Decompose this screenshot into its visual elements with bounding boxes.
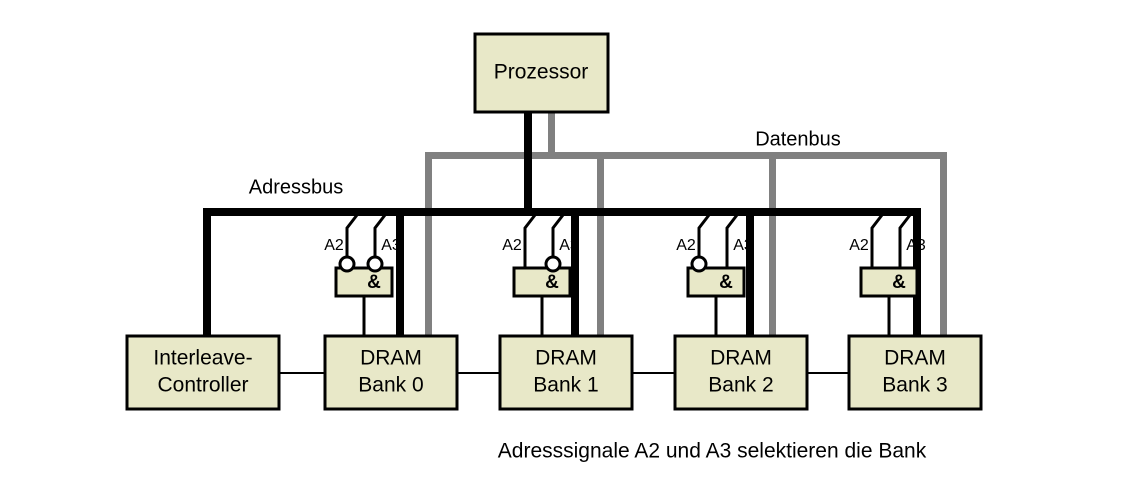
dram-bank-3-label-line2: Bank 3 (882, 374, 947, 397)
address-bus-drop-bank0 (396, 208, 404, 342)
address-bus-drop-bank2 (746, 208, 754, 342)
dram-bank-3[interactable]: DRAM Bank 3 (849, 336, 981, 409)
dram-bank-2[interactable]: DRAM Bank 2 (675, 336, 807, 409)
data-bus-drop-bank3 (940, 152, 947, 342)
dram-bank-0-label-line1: DRAM (360, 347, 422, 370)
and-gate-bank3-symbol: & (892, 272, 906, 293)
data-bus-drop-bank1 (597, 152, 604, 342)
and-gate-bank1[interactable]: & (514, 257, 570, 296)
interleave-controller-label-line1: Interleave- (153, 347, 252, 370)
dram-bank-1-label-line1: DRAM (535, 347, 597, 370)
gate-output-wires (364, 296, 889, 338)
data-bus-label: Datenbus (755, 128, 841, 150)
signal-label-a2-bank3: A2 (849, 237, 869, 254)
address-bus-drop-bank1 (571, 208, 579, 342)
address-bus-processor-drop (524, 112, 532, 212)
inverter-bubble-a2-bank0 (340, 257, 354, 271)
and-gate-bank3-rect (861, 268, 917, 296)
address-bus-label: Adressbus (249, 176, 344, 198)
inverter-bubble-a3-bank1 (546, 257, 560, 271)
and-gate-bank2-rect (688, 268, 744, 296)
address-bus-left-drop (203, 208, 211, 340)
and-gate-bank1-symbol: & (545, 272, 559, 293)
inverter-bubble-a2-bank2 (692, 257, 706, 271)
and-gate-bank1-rect (514, 268, 570, 296)
dram-bank-2-label-line1: DRAM (710, 347, 772, 370)
dram-bank-1[interactable]: DRAM Bank 1 (500, 336, 632, 409)
signal-label-a2-bank2: A2 (676, 237, 696, 254)
signal-label-a3-bank3: A3 (906, 237, 926, 254)
data-bus-horizontal (425, 152, 947, 159)
signal-label-a3-bank1: A3 (559, 237, 579, 254)
and-gate-bank3[interactable]: & (861, 268, 917, 296)
and-gate-bank2[interactable]: & (688, 257, 744, 296)
interleave-controller-box[interactable]: Interleave- Controller (127, 336, 279, 409)
data-bus-drop-bank0 (425, 152, 432, 342)
dram-bank-3-label-line1: DRAM (884, 347, 946, 370)
and-gate-bank2-symbol: & (719, 272, 733, 293)
dram-bank-2-label-line2: Bank 2 (708, 374, 773, 397)
dram-bank-0-label-line2: Bank 0 (358, 374, 423, 397)
data-bus-group (425, 112, 947, 342)
data-bus-processor-drop (548, 112, 555, 156)
signal-label-a3-bank0: A3 (381, 237, 401, 254)
dram-bank-0[interactable]: DRAM Bank 0 (325, 336, 457, 409)
and-gate-bank0-symbol: & (367, 272, 381, 293)
interleave-controller-label-line2: Controller (157, 374, 248, 397)
signal-label-a2-bank0: A2 (324, 237, 344, 254)
signal-labels: A2 A3 A2 A3 A2 A3 A2 A3 (324, 237, 926, 254)
and-gate-bank0-rect (336, 268, 392, 296)
processor-label: Prozessor (494, 61, 589, 84)
tap-a2-bank3 (872, 215, 882, 268)
signal-label-a3-bank2: A3 (733, 237, 753, 254)
and-gate-bank0[interactable]: & (336, 257, 392, 296)
diagram-canvas: Prozessor Interleave- Controller DRAM Ba… (0, 0, 1146, 500)
diagram-caption: Adresssignale A2 und A3 selektieren die … (498, 440, 927, 463)
dram-bank-1-label-line2: Bank 1 (533, 374, 598, 397)
interleaving-diagram: Prozessor Interleave- Controller DRAM Ba… (0, 0, 1146, 500)
signal-label-a2-bank1: A2 (502, 237, 522, 254)
data-bus-drop-bank2 (769, 152, 776, 342)
tap-a2-bank1 (525, 215, 535, 268)
processor-box[interactable]: Prozessor (475, 34, 608, 112)
inverter-bubble-a3-bank0 (368, 257, 382, 271)
